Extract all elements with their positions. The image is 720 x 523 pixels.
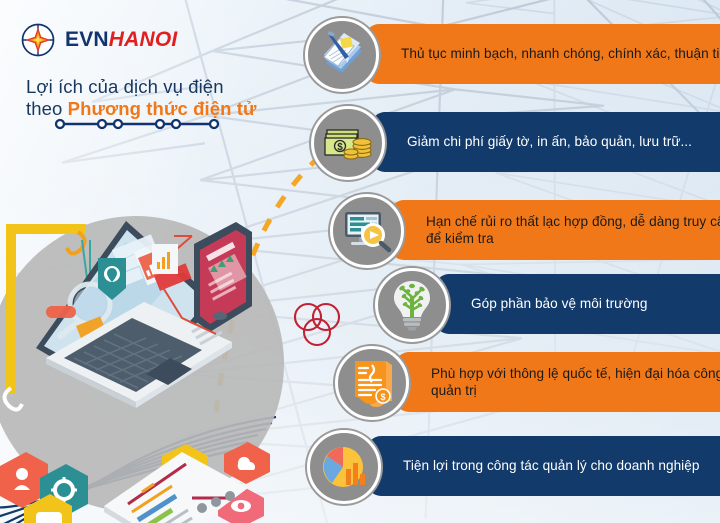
infographic-poster: EVNHANOI Lợi ích của dịch vụ điện theo P… bbox=[0, 0, 720, 523]
documents-pen-icon bbox=[316, 29, 368, 81]
list-item[interactable]: Hạn chế rủi ro thất lạc hợp đồng, dễ dàn… bbox=[330, 194, 705, 266]
benefit-icon-bubble[interactable]: $ bbox=[311, 106, 385, 180]
list-item[interactable]: Giảm chi phí giấy tờ, in ấn, bảo quản, l… bbox=[311, 106, 705, 178]
list-item[interactable]: Thủ tục minh bạch, nhanh chóng, chính xá… bbox=[305, 18, 705, 90]
monitor-magnifier-play-icon bbox=[340, 207, 394, 255]
benefit-banner[interactable]: Hạn chế rủi ro thất lạc hợp đồng, dễ dàn… bbox=[390, 200, 720, 260]
benefit-text: Tiện lợi trong công tác quản lý cho doan… bbox=[403, 457, 699, 474]
pie-bar-chart-icon bbox=[318, 442, 370, 492]
benefit-banner[interactable]: Thủ tục minh bạch, nhanh chóng, chính xá… bbox=[365, 24, 720, 84]
benefit-text: Hạn chế rủi ro thất lạc hợp đồng, dễ dàn… bbox=[426, 213, 720, 248]
benefit-icon-bubble[interactable] bbox=[375, 268, 449, 342]
benefit-banner[interactable]: Tiện lợi trong công tác quản lý cho doan… bbox=[367, 436, 720, 496]
benefits-list: Thủ tục minh bạch, nhanh chóng, chính xá… bbox=[0, 0, 720, 523]
benefit-icon-bubble[interactable] bbox=[330, 194, 404, 268]
list-item[interactable]: Phù hợp với thông lệ quốc tế, hiện đại h… bbox=[335, 346, 705, 418]
lightbulb-tree-eco-icon bbox=[390, 279, 434, 331]
svg-text:$: $ bbox=[337, 142, 343, 153]
benefit-text: Thủ tục minh bạch, nhanh chóng, chính xá… bbox=[401, 45, 720, 62]
invoice-document-dollar-icon: $ bbox=[348, 357, 396, 409]
benefit-text: Giảm chi phí giấy tờ, in ấn, bảo quản, l… bbox=[407, 133, 692, 150]
benefit-text: Phù hợp với thông lệ quốc tế, hiện đại h… bbox=[431, 365, 720, 400]
svg-text:$: $ bbox=[380, 392, 385, 402]
benefit-icon-bubble[interactable]: $ bbox=[335, 346, 409, 420]
benefit-banner[interactable]: Phù hợp với thông lệ quốc tế, hiện đại h… bbox=[395, 352, 720, 412]
benefit-icon-bubble[interactable] bbox=[305, 18, 379, 92]
money-cash-coins-icon: $ bbox=[322, 120, 374, 166]
benefit-icon-bubble[interactable] bbox=[307, 430, 381, 504]
list-item[interactable]: Tiện lợi trong công tác quản lý cho doan… bbox=[307, 430, 705, 502]
list-item[interactable]: Góp phần bảo vệ môi trường bbox=[375, 268, 705, 340]
benefit-banner[interactable]: Góp phần bảo vệ môi trường bbox=[435, 274, 720, 334]
benefit-banner[interactable]: Giảm chi phí giấy tờ, in ấn, bảo quản, l… bbox=[371, 112, 720, 172]
benefit-text: Góp phần bảo vệ môi trường bbox=[471, 295, 648, 312]
